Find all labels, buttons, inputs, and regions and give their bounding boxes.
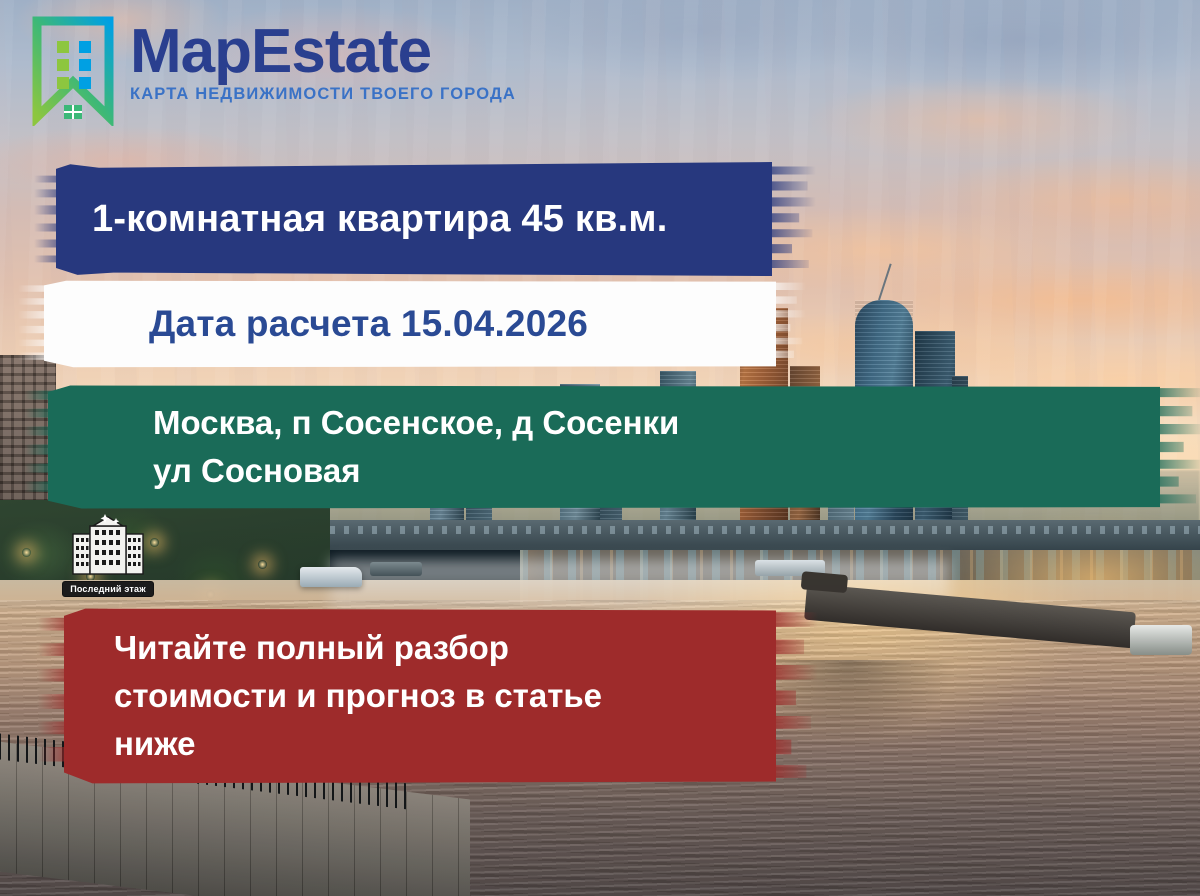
brand-name-part1: Map xyxy=(130,17,251,86)
cta-text: Читайте полный разбор стоимости и прогно… xyxy=(114,624,602,768)
brand-text: MapEstate КАРТА НЕДВИЖИМОСТИ ТВОЕГО ГОРО… xyxy=(130,16,516,104)
brand-logo[interactable]: MapEstate КАРТА НЕДВИЖИМОСТИ ТВОЕГО ГОРО… xyxy=(30,16,516,126)
cta-line-3: ниже xyxy=(114,720,602,768)
date-banner: Дата расчета 15.04.2026 xyxy=(44,278,776,370)
address-line-1: Москва, п Сосенское, д Сосенки xyxy=(153,399,679,447)
map-pin-building-icon xyxy=(30,16,116,126)
address-line-2: ул Сосновая xyxy=(153,447,679,495)
watermark-label: Последний этаж xyxy=(62,581,154,597)
apartment-building-icon xyxy=(69,512,147,578)
cta-line-1: Читайте полный разбор xyxy=(114,624,602,672)
cta-line-2: стоимости и прогноз в статье xyxy=(114,672,602,720)
watermark: Последний этаж xyxy=(44,512,172,597)
brand-tagline: КАРТА НЕДВИЖИМОСТИ ТВОЕГО ГОРОДА xyxy=(130,85,516,104)
address-banner: Москва, п Сосенское, д Сосенки ул Соснов… xyxy=(48,383,1160,511)
address-text: Москва, п Сосенское, д Сосенки ул Соснов… xyxy=(153,399,679,495)
calculation-date: Дата расчета 15.04.2026 xyxy=(149,303,588,345)
property-title: 1-комнатная квартира 45 кв.м. xyxy=(92,198,667,241)
property-banner: 1-комнатная квартира 45 кв.м. xyxy=(56,162,772,276)
cta-banner: Читайте полный разбор стоимости и прогно… xyxy=(64,605,776,787)
brand-name-part2: Estate xyxy=(251,17,431,86)
brand-name: MapEstate xyxy=(130,22,516,83)
